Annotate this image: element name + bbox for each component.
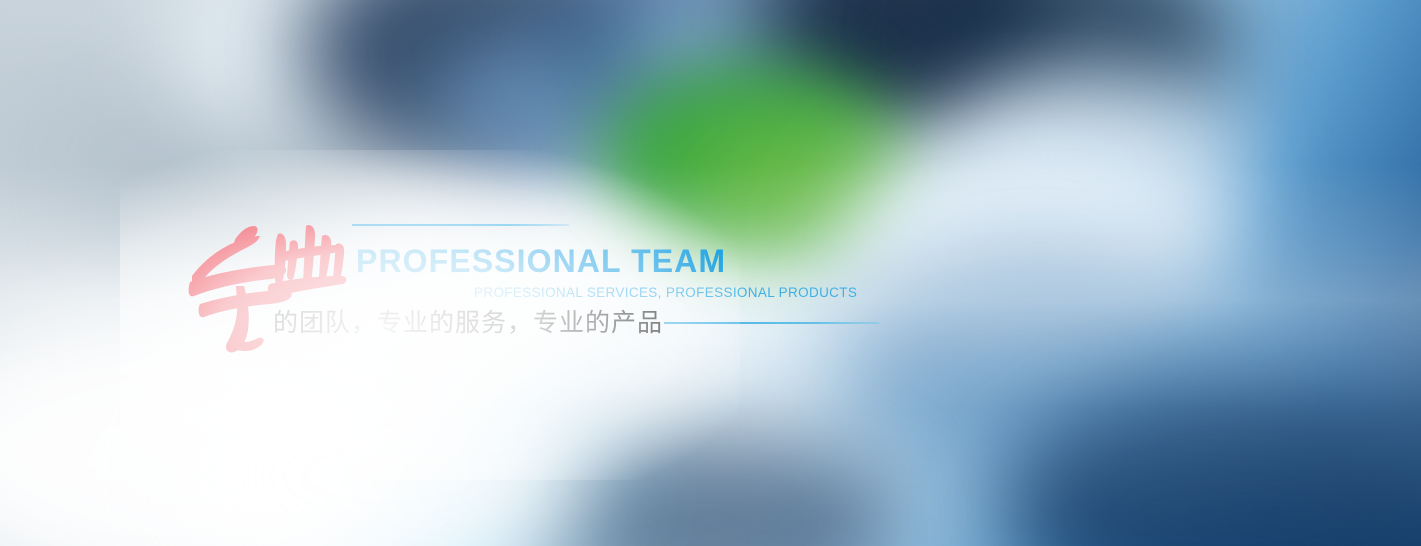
banner-chinese-tagline: 的团队，专业的服务，专业的产品 bbox=[273, 308, 663, 339]
top-divider-line bbox=[352, 224, 569, 226]
banner-hero: PROFESSIONAL TEAM PROFESSIONAL SERVICES,… bbox=[0, 0, 1421, 546]
bottom-divider-line bbox=[664, 322, 879, 324]
banner-subheadline: PROFESSIONAL SERVICES, PROFESSIONAL PROD… bbox=[474, 286, 857, 300]
banner-headline: PROFESSIONAL TEAM bbox=[356, 245, 726, 277]
